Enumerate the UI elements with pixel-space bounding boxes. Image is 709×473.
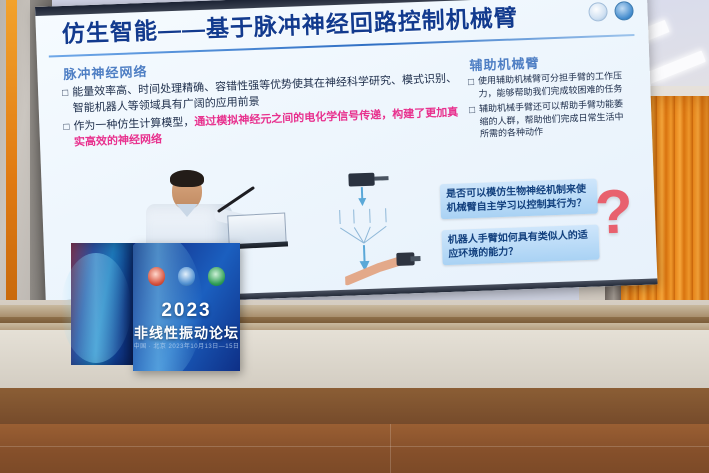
stage-front-panel [0, 388, 709, 428]
callout-bubble-2: 机器人手臂如何具有类似人的适应环境的能力？ [441, 225, 599, 266]
callout-bubble-1: 是否可以模仿生物神经机制来使机械臂自主学习以控制其行为？ [440, 179, 598, 220]
right-column-heading: 辅助机械臂 [469, 53, 540, 75]
bullet-text: 辅助机械手臂还可以帮助手臂功能萎缩的人群，帮助他们完成日常生活中所需的各种动作 [479, 97, 630, 140]
event-subtitle: 中国 · 北京 2023年10月13日—15日 [133, 343, 240, 352]
bullet-text: 使用辅助机械臂可分担手臂的工作压力，能够帮助我们完成较困难的任务 [478, 69, 629, 100]
slide-logo-group [588, 1, 634, 22]
conference-photo: 仿生智能——基于脉冲神经回路控制机械臂 脉冲神经网络 □ 能量效率高、时间处理精… [0, 0, 709, 473]
bullet-marker: □ [62, 86, 69, 117]
floor-seam [390, 424, 391, 473]
right-column-bullets: □ 使用辅助机械臂可分担手臂的工作压力，能够帮助我们完成较困难的任务 □ 辅助机… [468, 69, 630, 144]
floor-seam [0, 446, 709, 447]
event-name: 非线性振动论坛 [133, 323, 240, 343]
list-item: □ 使用辅助机械臂可分担手臂的工作压力，能够帮助我们完成较困难的任务 [468, 69, 629, 100]
speaker-hair [170, 170, 204, 187]
left-column-heading: 脉冲神经网络 [63, 61, 148, 83]
institute-globe-logo [614, 1, 634, 21]
robot-arm-illustration [344, 248, 435, 287]
bullet-marker: □ [63, 120, 70, 151]
podium-logo-blue [178, 267, 195, 286]
question-mark-icon: ? [594, 181, 634, 244]
podium-side-panel [71, 243, 133, 365]
left-column-bullets: □ 能量效率高、时间处理精确、容错性强等优势使其在神经科学研究、模式识别、智能机… [62, 71, 464, 154]
bullet-marker: □ [468, 75, 475, 100]
bullet-text-plain: 作为一种仿生计算模型， [73, 116, 194, 132]
podium-logo-red [148, 267, 165, 286]
wall-orange-stripe [6, 0, 17, 300]
event-year: 2023 [133, 300, 240, 322]
bullet-marker: □ [469, 103, 476, 141]
podium-logo-green [208, 267, 225, 286]
podium: 2023 非线性振动论坛 中国 · 北京 2023年10月13日—15日 [133, 243, 240, 371]
podium-graphic [61, 253, 131, 363]
university-seal-logo [588, 2, 608, 22]
foreground-floor [0, 424, 709, 473]
podium-logo-group [133, 267, 240, 286]
list-item: □ 辅助机械手臂还可以帮助手臂功能萎缩的人群，帮助他们完成日常生活中所需的各种动… [469, 97, 630, 141]
